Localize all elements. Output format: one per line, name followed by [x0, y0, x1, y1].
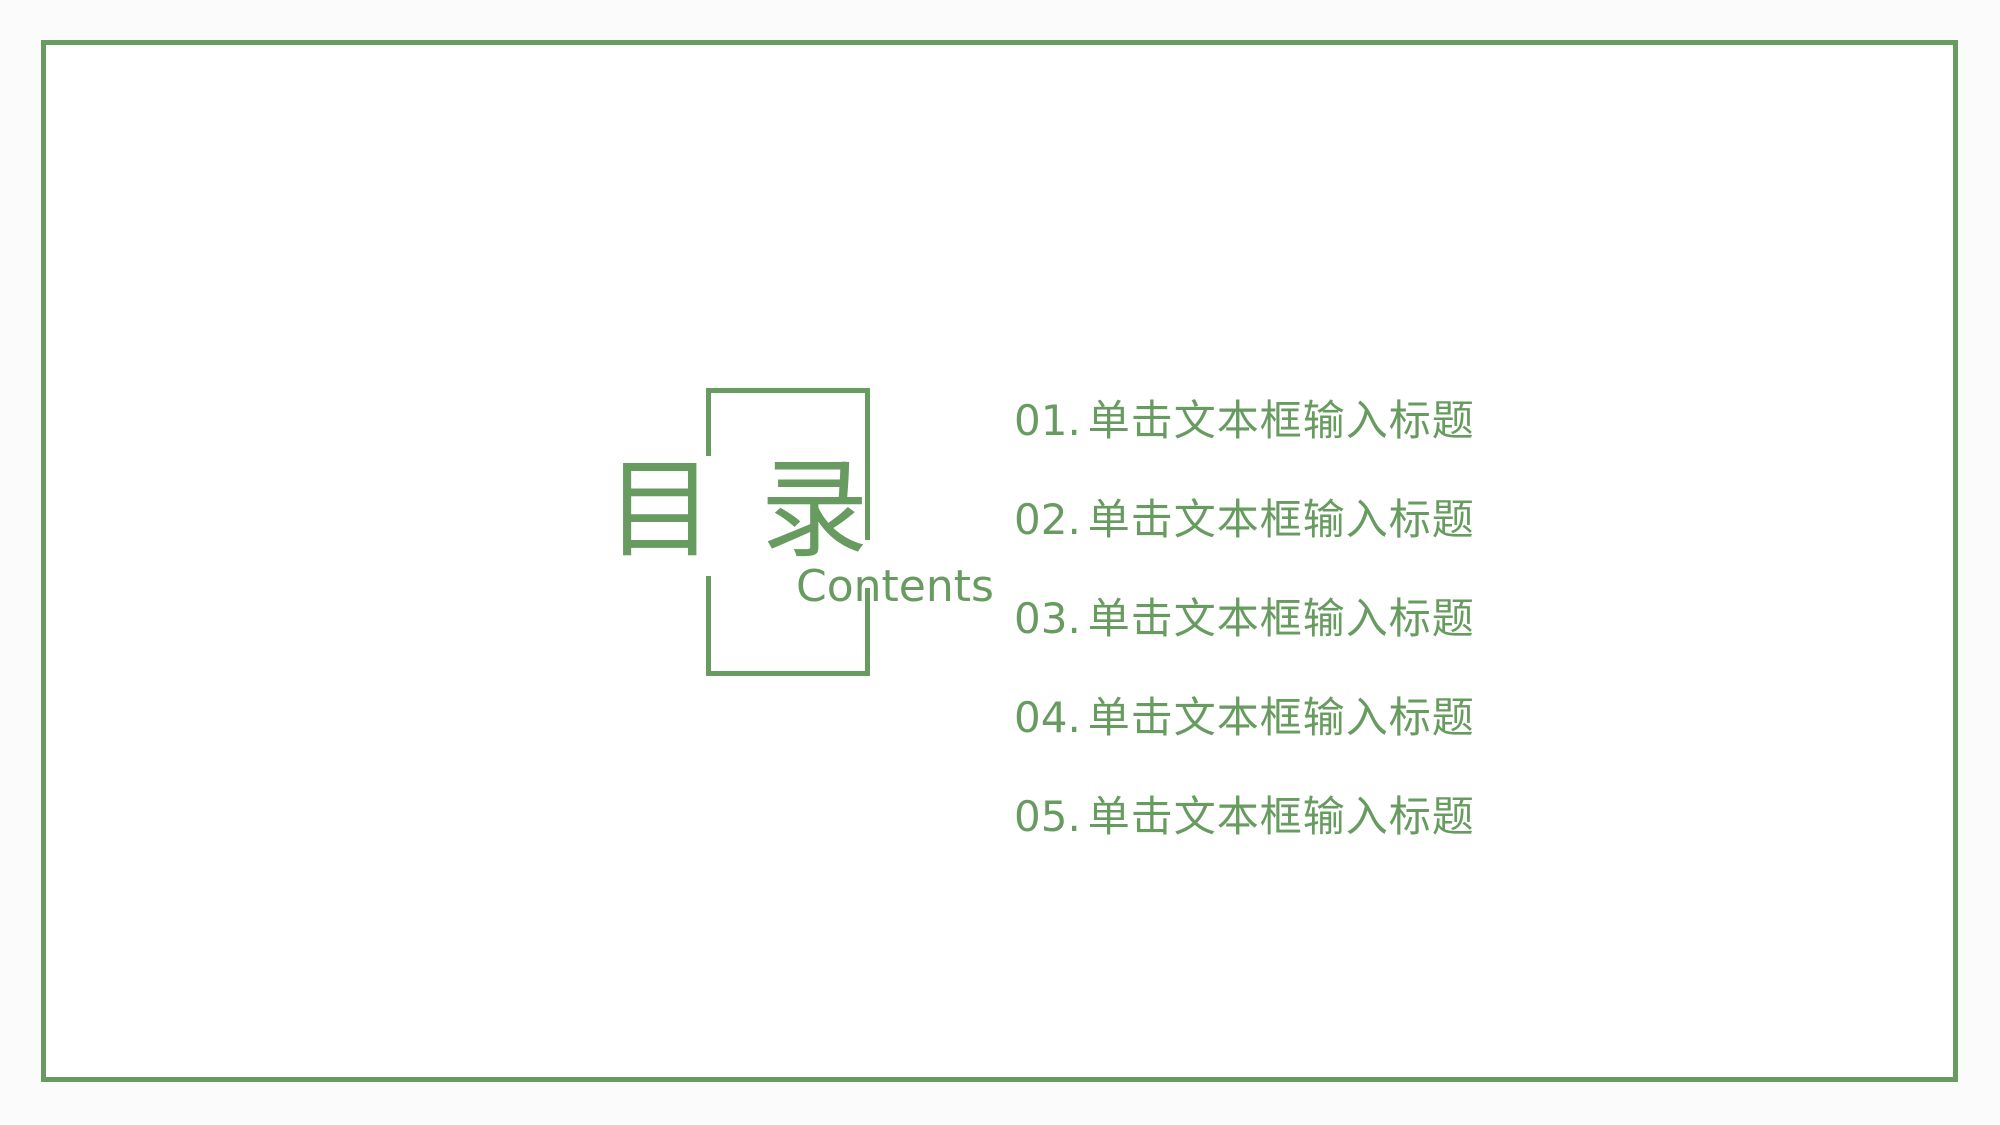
contents-item-number: 05.: [1014, 796, 1081, 838]
slide-canvas: 目 录 Contents 01. 单击文本框输入标题 02. 单击文本框输入标题…: [0, 0, 2000, 1125]
contents-item-02[interactable]: 02. 单击文本框输入标题: [1014, 499, 1534, 598]
bracket-bottom-rule: [706, 671, 870, 676]
contents-item-label: 单击文本框输入标题: [1088, 598, 1475, 640]
bracket-left-upper-segment: [706, 388, 711, 456]
contents-item-03[interactable]: 03. 单击文本框输入标题: [1014, 598, 1534, 697]
slide-border-frame: 目 录 Contents 01. 单击文本框输入标题 02. 单击文本框输入标题…: [41, 40, 1958, 1082]
page-title-latin: Contents: [796, 565, 994, 609]
contents-item-number: 03.: [1014, 598, 1081, 640]
bracket-top-rule: [706, 388, 870, 393]
contents-item-label: 单击文本框输入标题: [1088, 400, 1475, 442]
title-block: 目 录 Contents: [606, 375, 1006, 695]
contents-item-label: 单击文本框输入标题: [1088, 499, 1475, 541]
contents-item-number: 02.: [1014, 499, 1081, 541]
contents-item-01[interactable]: 01. 单击文本框输入标题: [1014, 400, 1534, 499]
page-title-cjk: 目 录: [606, 457, 874, 565]
contents-item-05[interactable]: 05. 单击文本框输入标题: [1014, 796, 1534, 895]
contents-list: 01. 单击文本框输入标题 02. 单击文本框输入标题 03. 单击文本框输入标…: [1014, 400, 1534, 895]
bracket-left-lower-segment: [706, 576, 711, 676]
contents-item-label: 单击文本框输入标题: [1088, 796, 1475, 838]
contents-item-label: 单击文本框输入标题: [1088, 697, 1475, 739]
contents-item-number: 04.: [1014, 697, 1081, 739]
contents-item-number: 01.: [1014, 400, 1081, 442]
contents-item-04[interactable]: 04. 单击文本框输入标题: [1014, 697, 1534, 796]
